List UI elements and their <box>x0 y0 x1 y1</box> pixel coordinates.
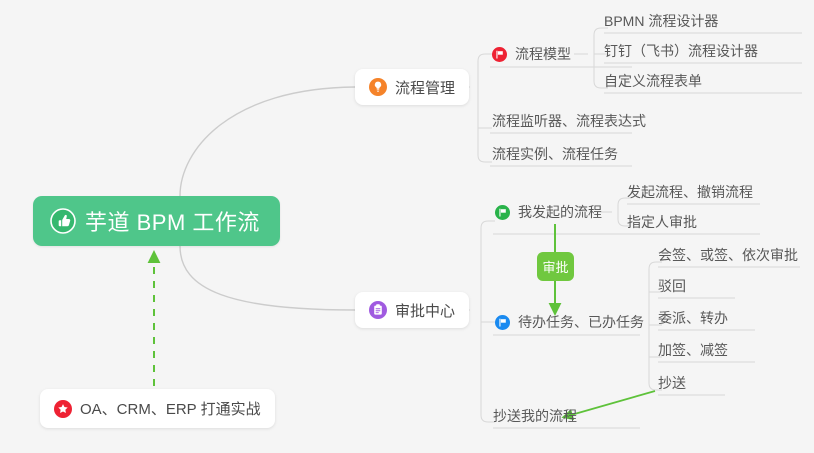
flag-icon-blue <box>495 315 510 330</box>
root-label: 芋道 BPM 工作流 <box>85 205 260 237</box>
lightbulb-icon <box>369 78 387 96</box>
leaf-countersign[interactable]: 会签、或签、依次审批 <box>658 242 798 268</box>
leaf-label-my-started-flows: 我发起的流程 <box>518 199 602 225</box>
leaf-start-cancel-flow[interactable]: 发起流程、撤销流程 <box>627 179 753 205</box>
mindmap-canvas: 芋道 BPM 工作流 流程管理 流程模型 BPMN 流程设计器 钉钉（飞书）流程 <box>0 0 814 453</box>
clipboard-icon <box>369 301 387 319</box>
leaf-label-flow-instance: 流程实例、流程任务 <box>492 141 618 167</box>
approval-tag-label: 审批 <box>542 257 568 276</box>
approval-tag: 审批 <box>537 252 574 281</box>
integration-node[interactable]: OA、CRM、ERP 打通实战 <box>40 389 275 428</box>
flag-icon-green <box>495 205 510 220</box>
branch-label-flow-management: 流程管理 <box>395 77 455 98</box>
branch-node-approval-center[interactable]: 审批中心 <box>355 292 469 328</box>
leaf-bpmn-designer[interactable]: BPMN 流程设计器 <box>604 8 718 34</box>
leaf-dingtalk-designer[interactable]: 钉钉（飞书）流程设计器 <box>604 38 758 64</box>
leaf-todo-done-tasks[interactable]: 待办任务、已办任务 <box>495 309 644 335</box>
leaf-label-custom-form: 自定义流程表单 <box>604 68 702 94</box>
leaf-custom-form[interactable]: 自定义流程表单 <box>604 68 702 94</box>
branch-node-flow-management[interactable]: 流程管理 <box>355 69 469 105</box>
leaf-label-flow-model: 流程模型 <box>515 41 571 67</box>
leaf-label-assignee-approval: 指定人审批 <box>627 209 697 235</box>
leaf-my-started-flows[interactable]: 我发起的流程 <box>495 199 602 225</box>
leaf-reject[interactable]: 驳回 <box>658 273 686 299</box>
leaf-cc-to-me-flows[interactable]: 抄送我的流程 <box>493 403 577 429</box>
leaf-label-cc-to-me-flows: 抄送我的流程 <box>493 403 577 429</box>
leaf-label-delegate-transfer: 委派、转办 <box>658 305 728 331</box>
leaf-cc[interactable]: 抄送 <box>658 370 686 396</box>
thumbs-up-icon <box>50 208 76 234</box>
leaf-label-add-remove-sign: 加签、减签 <box>658 337 728 363</box>
leaf-delegate-transfer[interactable]: 委派、转办 <box>658 305 728 331</box>
leaf-label-start-cancel-flow: 发起流程、撤销流程 <box>627 179 753 205</box>
star-icon <box>54 400 72 418</box>
integration-node-label: OA、CRM、ERP 打通实战 <box>80 398 261 419</box>
leaf-label-flow-listener: 流程监听器、流程表达式 <box>492 108 646 134</box>
leaf-label-dingtalk-designer: 钉钉（飞书）流程设计器 <box>604 38 758 64</box>
leaf-flow-model[interactable]: 流程模型 <box>492 41 571 67</box>
flag-icon-red <box>492 47 507 62</box>
leaf-label-bpmn-designer: BPMN 流程设计器 <box>604 8 718 34</box>
leaf-add-remove-sign[interactable]: 加签、减签 <box>658 337 728 363</box>
leaf-label-reject: 驳回 <box>658 273 686 299</box>
leaf-label-countersign: 会签、或签、依次审批 <box>658 242 798 268</box>
leaf-flow-instance[interactable]: 流程实例、流程任务 <box>492 141 618 167</box>
leaf-label-cc: 抄送 <box>658 370 686 396</box>
branch-label-approval-center: 审批中心 <box>395 300 455 321</box>
root-node[interactable]: 芋道 BPM 工作流 <box>33 196 280 246</box>
leaf-label-todo-done-tasks: 待办任务、已办任务 <box>518 309 644 335</box>
leaf-assignee-approval[interactable]: 指定人审批 <box>627 209 697 235</box>
leaf-flow-listener[interactable]: 流程监听器、流程表达式 <box>492 108 646 134</box>
